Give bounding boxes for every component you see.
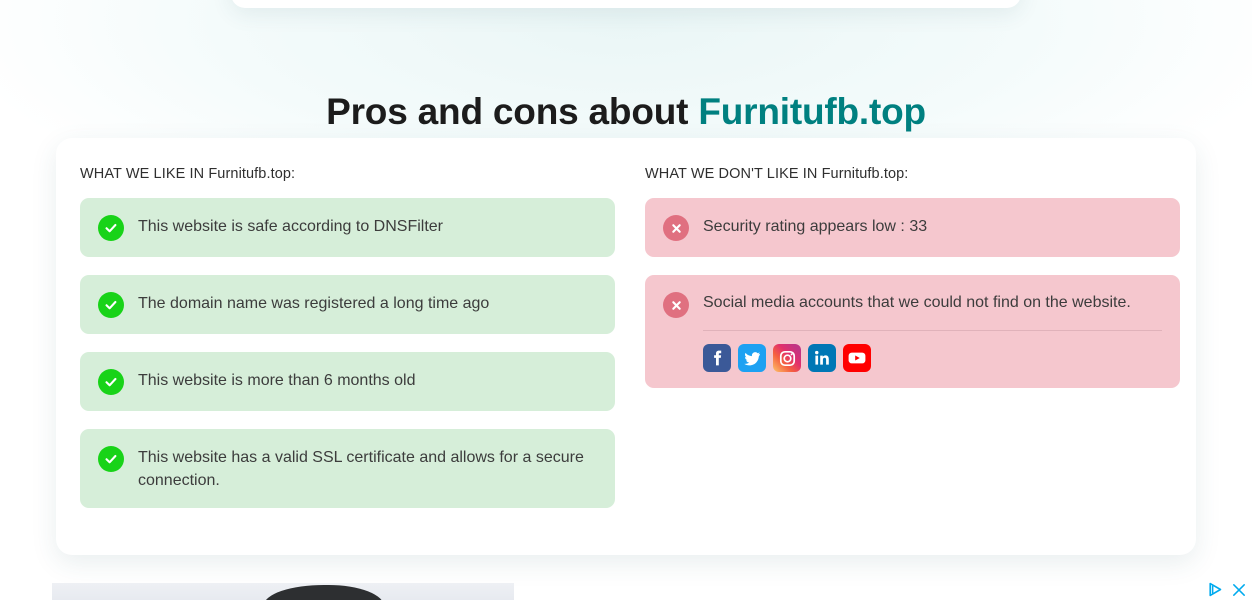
page-title-domain: Furnitufb.top xyxy=(698,91,926,132)
ad-banner-image[interactable] xyxy=(52,583,514,600)
page-title: Pros and cons about Furnitufb.top xyxy=(0,91,1252,133)
x-circle-icon xyxy=(663,215,689,241)
linkedin-icon[interactable] xyxy=(808,344,836,372)
pros-item-text: This website has a valid SSL certificate… xyxy=(138,445,597,492)
pros-heading: WHAT WE LIKE IN Furnitufb.top: xyxy=(80,166,615,182)
facebook-icon[interactable] xyxy=(703,344,731,372)
previous-section-card xyxy=(231,0,1021,8)
check-circle-icon xyxy=(98,292,124,318)
pros-item-text: This website is more than 6 months old xyxy=(138,368,415,392)
cons-column: WHAT WE DON'T LIKE IN Furnitufb.top: Sec… xyxy=(645,162,1180,555)
cons-item-social: Social media accounts that we could not … xyxy=(645,275,1180,388)
pros-item: The domain name was registered a long ti… xyxy=(80,275,615,334)
ad-controls xyxy=(1208,582,1246,597)
pros-column: WHAT WE LIKE IN Furnitufb.top: This webs… xyxy=(80,162,615,555)
page-title-prefix: Pros and cons about xyxy=(326,91,698,132)
close-icon[interactable] xyxy=(1232,583,1246,597)
twitter-icon[interactable] xyxy=(738,344,766,372)
adchoices-icon[interactable] xyxy=(1208,582,1223,597)
social-divider xyxy=(703,330,1162,331)
instagram-icon[interactable] xyxy=(773,344,801,372)
cons-item-text: Social media accounts that we could not … xyxy=(703,293,1131,311)
pros-item: This website has a valid SSL certificate… xyxy=(80,429,615,508)
pros-and-cons-card: WHAT WE LIKE IN Furnitufb.top: This webs… xyxy=(56,138,1196,555)
cons-item: Security rating appears low : 33 xyxy=(645,198,1180,257)
cons-item-body: Social media accounts that we could not … xyxy=(703,291,1162,372)
pros-item-text: This website is safe according to DNSFil… xyxy=(138,214,443,238)
ad-person-hair xyxy=(264,585,384,600)
check-circle-icon xyxy=(98,215,124,241)
social-links-row xyxy=(703,344,1162,372)
cons-heading: WHAT WE DON'T LIKE IN Furnitufb.top: xyxy=(645,166,1180,182)
check-circle-icon xyxy=(98,369,124,395)
youtube-icon[interactable] xyxy=(843,344,871,372)
x-circle-icon xyxy=(663,292,689,318)
cons-item-text: Security rating appears low : 33 xyxy=(703,214,927,238)
pros-item-text: The domain name was registered a long ti… xyxy=(138,291,489,315)
check-circle-icon xyxy=(98,446,124,472)
pros-item: This website is safe according to DNSFil… xyxy=(80,198,615,257)
pros-item: This website is more than 6 months old xyxy=(80,352,615,411)
